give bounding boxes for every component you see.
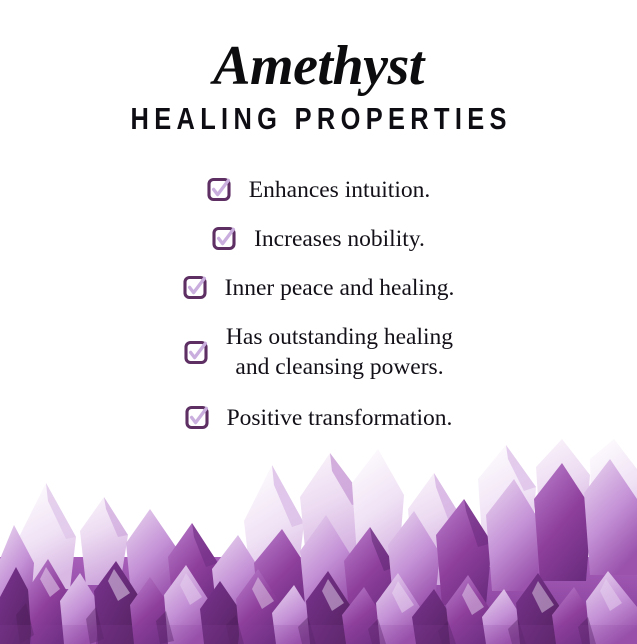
header: Amethyst HEALING PROPERTIES bbox=[0, 0, 637, 136]
list-item: Enhances intuition. bbox=[0, 176, 637, 204]
healing-properties-list: Enhances intuition. Increases nobility. bbox=[0, 176, 637, 432]
list-item: Has outstanding healing and cleansing po… bbox=[0, 323, 637, 383]
list-item-label: Inner peace and healing. bbox=[225, 274, 455, 302]
checkbox-checked-icon bbox=[184, 340, 209, 365]
list-item-label: Positive transformation. bbox=[227, 404, 453, 432]
amethyst-healing-properties-poster: Amethyst HEALING PROPERTIES Enhances int… bbox=[0, 0, 637, 644]
list-item-row: Inner peace and healing. bbox=[0, 274, 637, 302]
list-item: Positive transformation. bbox=[0, 404, 637, 432]
list-item: Increases nobility. bbox=[0, 225, 637, 253]
page-subtitle: HEALING PROPERTIES bbox=[57, 96, 579, 136]
checkbox-checked-icon bbox=[212, 226, 237, 251]
list-item-row: Increases nobility. bbox=[0, 225, 637, 253]
checkbox-checked-icon bbox=[207, 177, 232, 202]
amethyst-crystal-cluster-photo bbox=[0, 439, 637, 644]
list-item-row: Has outstanding healing and cleansing po… bbox=[0, 323, 637, 383]
checkbox-checked-icon bbox=[183, 275, 208, 300]
list-item-row: Positive transformation. bbox=[0, 404, 637, 432]
checkbox-checked-icon bbox=[185, 405, 210, 430]
page-title: Amethyst bbox=[0, 0, 637, 96]
list-item-label: Has outstanding healing and cleansing po… bbox=[226, 322, 453, 382]
list-item-label: Enhances intuition. bbox=[249, 176, 430, 204]
list-item: Inner peace and healing. bbox=[0, 274, 637, 302]
list-item-label: Increases nobility. bbox=[254, 225, 425, 253]
list-item-row: Enhances intuition. bbox=[0, 176, 637, 204]
